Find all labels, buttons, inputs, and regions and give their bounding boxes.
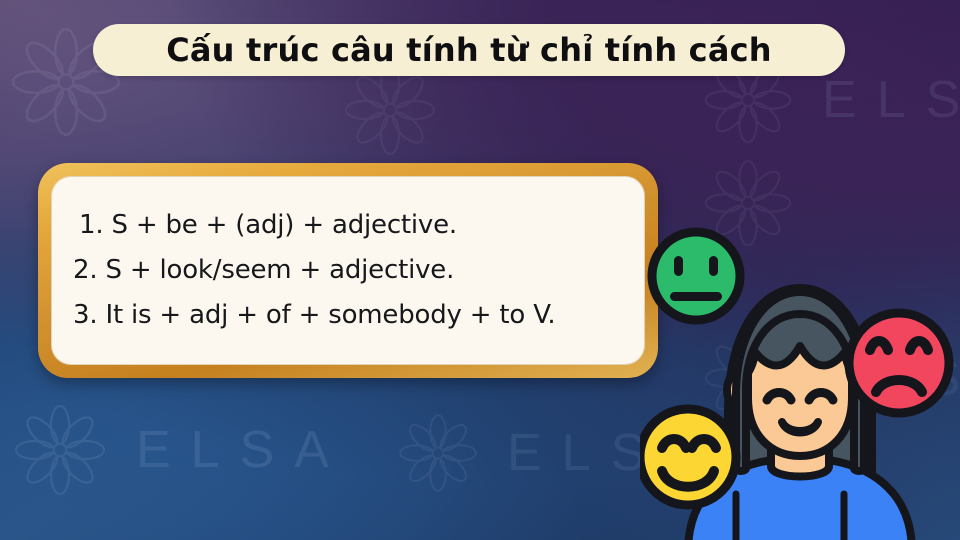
page-title-pill: Cấu trúc câu tính từ chỉ tính cách [93, 24, 845, 76]
rules-card: 1. S + be + (adj) + adjective. 2. S + lo… [38, 163, 658, 378]
rules-card-inner: 1. S + be + (adj) + adjective. 2. S + lo… [51, 176, 645, 365]
slide-canvas: ELSA ELSA [0, 0, 960, 540]
neutral-face-emoji [652, 232, 740, 320]
happy-face-emoji [640, 409, 736, 505]
character-illustration [640, 222, 960, 540]
rule-item-3: 3. It is + adj + of + somebody + to V. [73, 293, 635, 338]
rule-item-1: 1. S + be + (adj) + adjective. [73, 203, 635, 248]
page-title: Cấu trúc câu tính từ chỉ tính cách [166, 31, 772, 69]
angry-face-emoji [849, 313, 949, 413]
rule-item-2: 2. S + look/seem + adjective. [73, 248, 635, 293]
